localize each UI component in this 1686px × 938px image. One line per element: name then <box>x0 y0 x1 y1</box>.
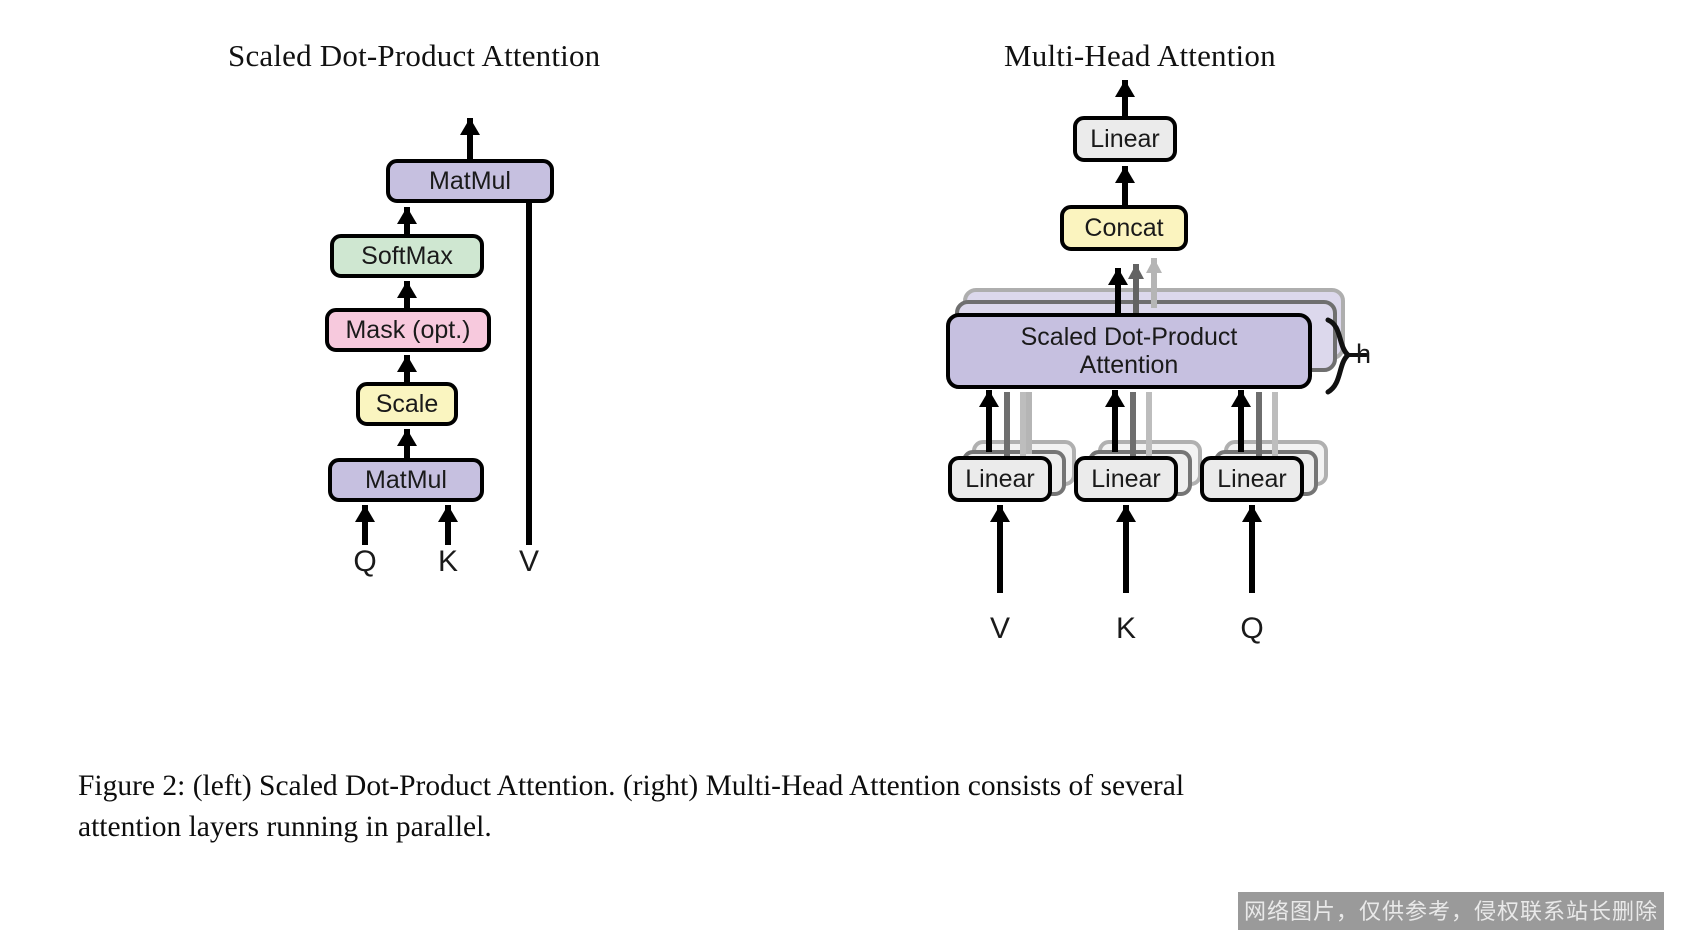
left-panel-title: Scaled Dot-Product Attention <box>228 38 600 74</box>
node-label: Linear <box>1090 125 1160 153</box>
left-output-arrow <box>455 118 485 164</box>
right-input-label-v: V <box>980 612 1020 646</box>
node-label: Concat <box>1084 214 1163 242</box>
node-linear-k[interactable]: Linear <box>1074 456 1178 502</box>
connector-linear-v-ghost2 <box>1020 392 1026 456</box>
figure-canvas: Scaled Dot-Product Attention Multi-Head … <box>0 0 1686 938</box>
node-label: Linear <box>1217 465 1287 493</box>
figure-caption: Figure 2: (left) Scaled Dot-Product Atte… <box>78 766 1516 847</box>
arrow-input-k <box>433 505 463 545</box>
arrow-linear-k-to-sdpa <box>1100 390 1130 452</box>
node-linear-v[interactable]: Linear <box>948 456 1052 502</box>
connector-linear-k-ghost2 <box>1146 392 1152 456</box>
input-label-q: Q <box>345 545 385 579</box>
heads-count-label: h <box>1356 339 1371 370</box>
node-label: SoftMax <box>361 242 453 270</box>
arrow-concat-to-linear <box>1110 166 1140 206</box>
node-label: MatMul <box>429 167 511 195</box>
node-matmul-bottom[interactable]: MatMul <box>328 458 484 502</box>
node-softmax[interactable]: SoftMax <box>330 234 484 278</box>
arrow-input-q <box>350 505 380 545</box>
node-scale[interactable]: Scale <box>356 382 458 426</box>
node-mask[interactable]: Mask (opt.) <box>325 308 491 352</box>
arrow-linear-v-to-sdpa <box>974 390 1004 452</box>
node-concat[interactable]: Concat <box>1060 205 1188 251</box>
node-label: MatMul <box>365 466 447 494</box>
watermark-banner: 网络图片，仅供参考，侵权联系站长删除 <box>1238 892 1664 930</box>
arrow-input-v <box>514 163 544 545</box>
node-label-line2: Attention <box>1080 351 1179 379</box>
arrow-linear-q-to-sdpa <box>1226 390 1256 452</box>
connector-linear-q-ghost2 <box>1272 392 1278 456</box>
node-scaled-dot-product-attention[interactable]: Scaled Dot-Product Attention <box>946 313 1312 389</box>
caption-line-1: Figure 2: (left) Scaled Dot-Product Atte… <box>78 770 1184 802</box>
input-label-v: V <box>509 545 549 579</box>
arrow-input-v-to-linear <box>985 505 1015 593</box>
right-input-label-q: Q <box>1232 612 1272 646</box>
node-label: Linear <box>965 465 1035 493</box>
arrow-input-q-to-linear <box>1237 505 1267 593</box>
right-output-arrow <box>1110 80 1140 120</box>
right-input-label-k: K <box>1106 612 1146 646</box>
node-label: Linear <box>1091 465 1161 493</box>
node-linear-output[interactable]: Linear <box>1073 116 1177 162</box>
arrow-input-k-to-linear <box>1111 505 1141 593</box>
node-linear-q[interactable]: Linear <box>1200 456 1304 502</box>
node-label: Scale <box>376 390 439 418</box>
node-label-line1: Scaled Dot-Product <box>1021 323 1238 351</box>
caption-line-2: attention layers running in parallel. <box>78 807 1516 848</box>
node-label: Mask (opt.) <box>345 316 470 344</box>
right-panel-title: Multi-Head Attention <box>1004 38 1276 74</box>
node-matmul-top[interactable]: MatMul <box>386 159 554 203</box>
input-label-k: K <box>428 545 468 579</box>
